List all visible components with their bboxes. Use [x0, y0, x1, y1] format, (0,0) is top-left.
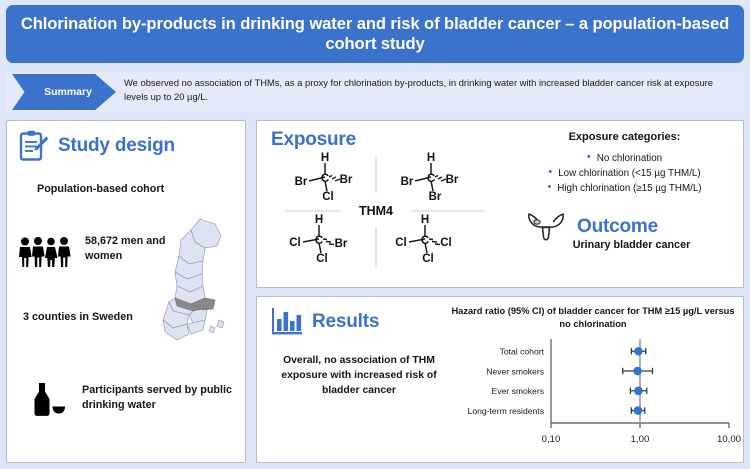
- study-design-type: Population-based cohort: [37, 183, 237, 195]
- svg-text:Br: Br: [295, 176, 308, 188]
- svg-text:H: H: [315, 214, 323, 226]
- forest-row-label: Total cohort: [500, 347, 545, 357]
- svg-text:Br: Br: [335, 238, 348, 250]
- exposure-panel: Exposure: [256, 120, 744, 288]
- results-note: Overall, no association of THM exposure …: [271, 353, 447, 398]
- svg-text:Br: Br: [429, 191, 442, 203]
- svg-text:Cl: Cl: [289, 237, 301, 249]
- forest-plot-title: Hazard ratio (95% CI) of bladder cancer …: [447, 305, 739, 332]
- svg-text:0,10: 0,10: [542, 434, 561, 445]
- svg-text:Cl: Cl: [422, 253, 434, 265]
- exposure-category-label: No chlorination: [597, 151, 662, 166]
- svg-text:Br: Br: [340, 174, 353, 186]
- study-design-title: Study design: [58, 135, 175, 157]
- thm4-label: THM4: [359, 204, 393, 218]
- svg-text:Cl: Cl: [316, 253, 328, 265]
- exposure-title: Exposure: [271, 129, 356, 151]
- exposure-category-label: High chlorination (≥15 µg THM/L): [557, 181, 701, 196]
- svg-text:Cl: Cl: [322, 191, 334, 203]
- svg-text:1,00: 1,00: [631, 434, 650, 445]
- exposure-categories-title: Exposure categories:: [512, 131, 737, 143]
- outcome-title: Outcome: [577, 216, 658, 238]
- bullet-icon: •: [587, 151, 591, 164]
- clipboard-icon: [19, 130, 49, 162]
- svg-text:10,00: 10,00: [717, 434, 741, 445]
- svg-text:C: C: [427, 173, 435, 185]
- svg-text:C: C: [421, 235, 429, 247]
- page-title: Chlorination by-products in drinking wat…: [20, 14, 730, 54]
- list-item: • Low chlorination (<15 µg THM/L): [507, 166, 742, 181]
- forest-row-label: Long-term residents: [468, 406, 544, 416]
- summary-tag: Summary: [12, 74, 116, 110]
- svg-text:C: C: [315, 235, 323, 247]
- title-banner: Chlorination by-products in drinking wat…: [6, 5, 744, 63]
- study-design-header: Study design: [19, 130, 175, 162]
- forest-row-label: Ever smokers: [491, 386, 544, 396]
- graphical-abstract: Chlorination by-products in drinking wat…: [0, 0, 750, 469]
- results-header: Results: [271, 307, 379, 337]
- study-design-panel: Study design Population-based cohort 58,…: [6, 120, 246, 463]
- svg-text:Br: Br: [401, 176, 414, 188]
- svg-text:C: C: [321, 173, 329, 185]
- svg-text:Cl: Cl: [395, 237, 407, 249]
- results-title: Results: [312, 311, 379, 333]
- forest-plot-svg: 0,101,0010,00Total cohortNever smokersEv…: [443, 333, 741, 457]
- sweden-map: [145, 216, 237, 346]
- forest-row-label: Never smokers: [486, 366, 544, 376]
- summary-text: We observed no association of THMs, as a…: [124, 76, 736, 104]
- svg-text:H: H: [421, 214, 429, 226]
- study-water-source: Participants served by public drinking w…: [82, 383, 237, 412]
- exposure-header: Exposure: [271, 129, 356, 151]
- exposure-categories-list: • No chlorination • Low chlorination (<1…: [507, 151, 742, 197]
- people-group-icon: [17, 236, 77, 268]
- svg-text:Cl: Cl: [440, 237, 452, 249]
- list-item: • No chlorination: [507, 151, 742, 166]
- forest-plot: 0,101,0010,00Total cohortNever smokersEv…: [443, 333, 741, 457]
- results-panel: Results Overall, no association of THM e…: [256, 296, 744, 463]
- water-bottle-icon: [27, 382, 67, 420]
- summary-row: Summary We observed no association of TH…: [6, 72, 744, 112]
- svg-text:H: H: [427, 152, 435, 164]
- outcome-subtitle: Urinary bladder cancer: [519, 239, 744, 251]
- svg-text:Br: Br: [446, 174, 459, 186]
- list-item: • High chlorination (≥15 µg THM/L): [507, 181, 742, 196]
- bullet-icon: •: [547, 181, 551, 194]
- thm4-structures: HC BrBrCl HC BrBrBr HC ClBrCl HC ClClCl …: [279, 149, 494, 277]
- svg-text:H: H: [321, 152, 329, 164]
- exposure-category-label: Low chlorination (<15 µg THM/L): [558, 166, 700, 181]
- bullet-icon: •: [548, 166, 552, 179]
- bar-chart-icon: [271, 307, 303, 337]
